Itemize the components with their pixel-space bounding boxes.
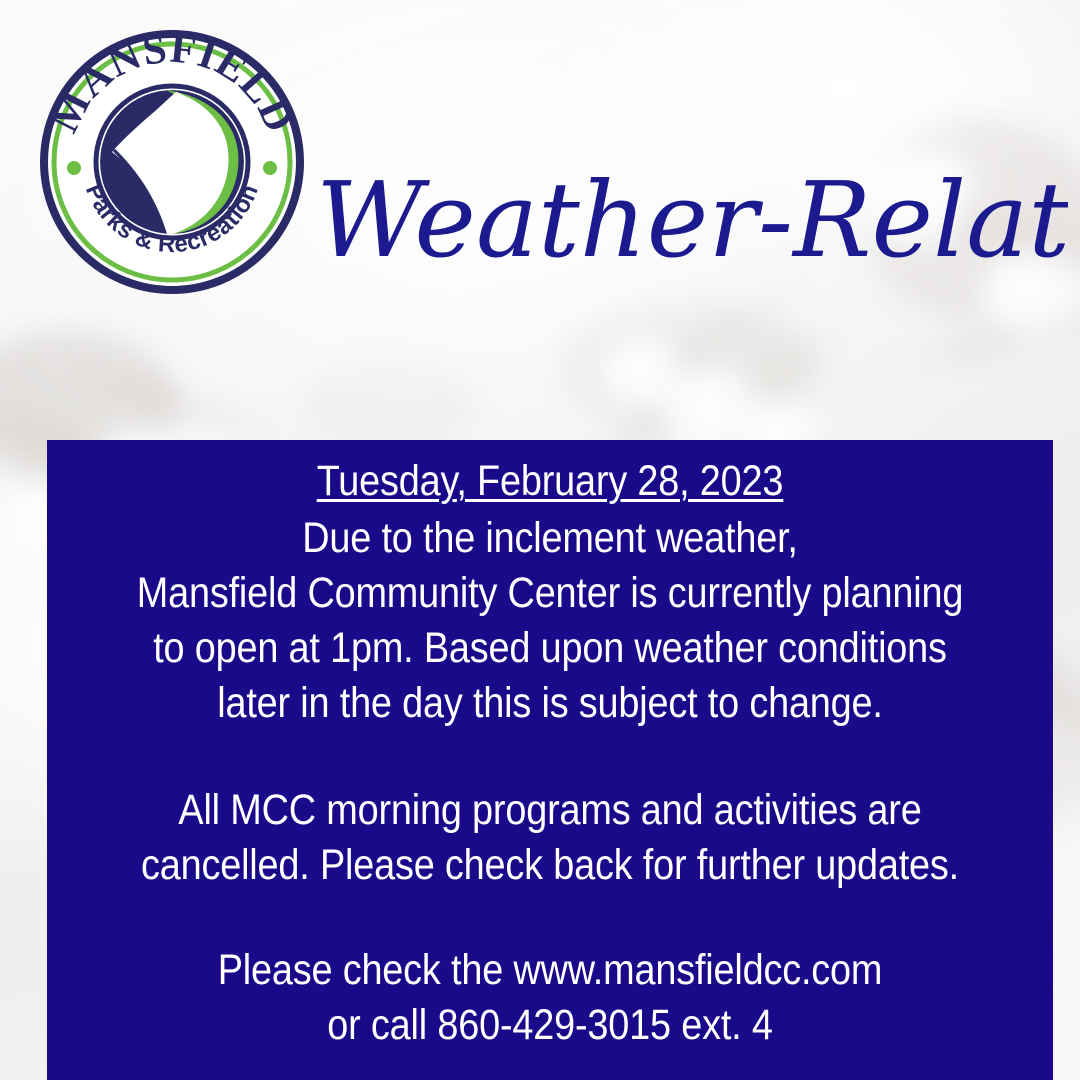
notice-p3-line2: or call 860-429-3015 ext. 4 (128, 998, 971, 1053)
notice-p1-line2: Mansfield Community Center is currently … (128, 566, 971, 621)
notice-p1-line3: to open at 1pm. Based upon weather condi… (128, 621, 971, 676)
notice-date: Tuesday, February 28, 2023 (128, 454, 971, 509)
mansfield-parks-recreation-logo: MANSFIELD Parks & Recreation (38, 28, 306, 296)
notice-p1-line4: later in the day this is subject to chan… (128, 676, 971, 731)
paragraph-spacer-2 (71, 893, 1029, 943)
paragraph-spacer-1 (71, 731, 1029, 783)
headline-weather-related-update: Weather-Related Update (312, 128, 1068, 312)
notice-p3-line1: Please check the www.mansfieldcc.com (128, 943, 971, 998)
notice-p2-line1: All MCC morning programs and activities … (128, 783, 971, 838)
logo-dot-right (263, 161, 277, 175)
headline-text: Weather-Related Update (316, 159, 1068, 281)
announcement-graphic: MANSFIELD Parks & Recreation Weather-Rel… (0, 0, 1080, 1080)
notice-panel: Tuesday, February 28, 2023 Due to the in… (47, 440, 1053, 1080)
notice-p2-line2: cancelled. Please check back for further… (128, 838, 971, 893)
logo-dot-left (67, 161, 81, 175)
notice-p1-line1: Due to the inclement weather, (128, 511, 971, 566)
